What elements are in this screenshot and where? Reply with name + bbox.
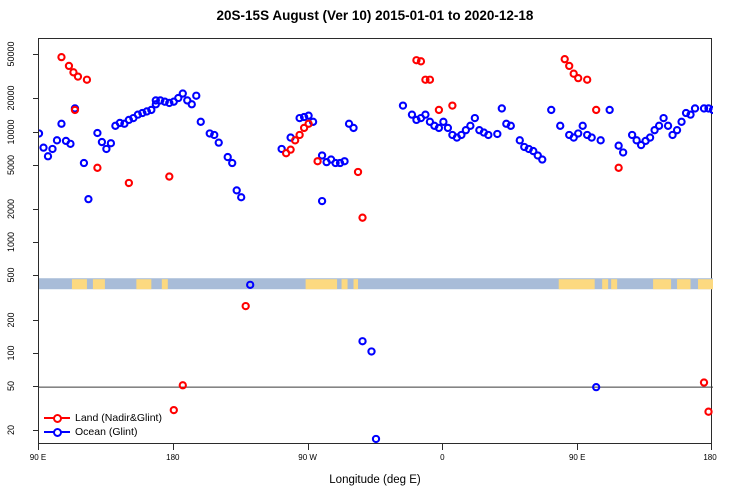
data-point	[49, 146, 55, 152]
data-point	[39, 130, 42, 136]
data-point	[45, 153, 51, 159]
data-point	[288, 147, 294, 153]
page-title: 20S-15S August (Ver 10) 2015-01-01 to 20…	[0, 8, 750, 23]
plot-area	[38, 38, 712, 444]
data-point	[211, 132, 217, 138]
y-tick-label: 20000	[6, 81, 16, 115]
data-point	[494, 131, 500, 137]
data-point	[126, 180, 132, 186]
data-point	[445, 125, 451, 131]
surface-band-land-segment	[611, 279, 617, 289]
data-point	[84, 77, 90, 83]
data-point	[40, 145, 46, 151]
legend-label: Land (Nadir&Glint)	[75, 412, 162, 424]
data-point	[225, 154, 231, 160]
data-point	[548, 107, 554, 113]
surface-band-land-segment	[93, 279, 105, 289]
x-axis-label: Longitude (deg E)	[0, 474, 750, 486]
data-point	[99, 139, 105, 145]
data-point	[85, 196, 91, 202]
data-point	[189, 101, 195, 107]
data-point	[562, 56, 568, 62]
data-point	[607, 107, 613, 113]
data-point	[598, 137, 604, 143]
data-point	[687, 112, 693, 118]
y-tick-label: 200	[6, 303, 16, 337]
data-point	[427, 77, 433, 83]
surface-band-land-segment	[342, 279, 348, 289]
data-point	[94, 165, 100, 171]
data-point	[517, 137, 523, 143]
data-point	[319, 198, 325, 204]
x-tick-label: 90 E	[30, 453, 46, 462]
data-point	[103, 146, 109, 152]
data-point	[440, 119, 446, 125]
legend-marker-icon	[44, 412, 70, 424]
data-point	[580, 123, 586, 129]
data-point	[58, 121, 64, 127]
x-tick-label: 90 W	[298, 453, 317, 462]
data-point	[341, 158, 347, 164]
data-point	[166, 173, 172, 179]
y-tick-label: 50000	[6, 37, 16, 71]
data-point	[418, 58, 424, 64]
surface-band-land-segment	[136, 279, 151, 289]
data-point	[148, 107, 154, 113]
data-point	[58, 54, 64, 60]
data-point	[368, 348, 374, 354]
data-point	[319, 152, 325, 158]
data-point	[557, 123, 563, 129]
legend-circle-icon	[53, 414, 62, 423]
data-point	[575, 130, 581, 136]
data-point	[400, 103, 406, 109]
data-point	[234, 187, 240, 193]
scatter-canvas	[39, 39, 713, 445]
data-point	[180, 90, 186, 96]
data-point	[306, 113, 312, 119]
series-ocean	[39, 90, 713, 442]
data-point	[243, 303, 249, 309]
data-point	[665, 123, 671, 129]
surface-band-land-segment	[602, 279, 608, 289]
surface-band-land-segment	[653, 279, 671, 289]
y-tick-label: 5000	[6, 148, 16, 182]
data-point	[54, 137, 60, 143]
surface-band-land-segment	[698, 279, 713, 289]
data-point	[180, 382, 186, 388]
data-point	[314, 158, 320, 164]
data-point	[72, 107, 78, 113]
data-point	[81, 160, 87, 166]
y-tick-label: 100	[6, 336, 16, 370]
y-tick-label: 2000	[6, 192, 16, 226]
data-point	[701, 379, 707, 385]
x-tick-label: 180	[166, 453, 179, 462]
data-point	[359, 215, 365, 221]
data-point	[589, 134, 595, 140]
legend-marker-icon	[44, 426, 70, 438]
data-point	[306, 121, 312, 127]
surface-band-land-segment	[354, 279, 358, 289]
x-tick-label: 180	[703, 453, 716, 462]
data-point	[67, 141, 73, 147]
y-tick-label: 1000	[6, 225, 16, 259]
data-point	[198, 119, 204, 125]
data-point	[359, 338, 365, 344]
y-tick-label: 50	[6, 369, 16, 403]
data-point	[355, 169, 361, 175]
data-point	[238, 194, 244, 200]
data-point	[94, 130, 100, 136]
data-point	[193, 93, 199, 99]
data-point	[216, 140, 222, 146]
data-point	[678, 119, 684, 125]
data-point	[616, 165, 622, 171]
data-point	[373, 436, 379, 442]
y-tick-label: 20	[6, 413, 16, 447]
surface-band-land-segment	[677, 279, 690, 289]
x-tick-label: 0	[440, 453, 444, 462]
data-point	[692, 105, 698, 111]
data-point	[485, 132, 491, 138]
data-point	[108, 140, 114, 146]
data-point	[467, 123, 473, 129]
data-point	[472, 115, 478, 121]
data-point	[75, 74, 81, 80]
data-point	[350, 125, 356, 131]
data-point	[171, 407, 177, 413]
data-point	[566, 63, 572, 69]
x-tick-label: 90 E	[569, 453, 585, 462]
surface-band-land-segment	[559, 279, 595, 289]
data-point	[229, 160, 235, 166]
y-tick-label: 500	[6, 258, 16, 292]
data-point	[297, 132, 303, 138]
data-point	[499, 105, 505, 111]
data-point	[539, 156, 545, 162]
data-point	[584, 77, 590, 83]
surface-band-land-segment	[162, 279, 168, 289]
legend: Land (Nadir&Glint)Ocean (Glint)	[44, 411, 162, 439]
data-point	[705, 409, 711, 415]
legend-item-ocean[interactable]: Ocean (Glint)	[44, 425, 162, 439]
legend-label: Ocean (Glint)	[75, 426, 137, 438]
data-point	[656, 123, 662, 129]
data-point	[647, 134, 653, 140]
y-tick-label: 10000	[6, 115, 16, 149]
data-point	[436, 107, 442, 113]
data-point	[508, 123, 514, 129]
surface-band-land-segment	[306, 279, 337, 289]
data-point	[575, 75, 581, 81]
data-point	[449, 103, 455, 109]
legend-item-land[interactable]: Land (Nadir&Glint)	[44, 411, 162, 425]
data-point	[66, 63, 72, 69]
data-point	[616, 143, 622, 149]
data-point	[436, 125, 442, 131]
chart-root: 20S-15S August (Ver 10) 2015-01-01 to 20…	[0, 0, 750, 500]
data-point	[660, 115, 666, 121]
data-point	[674, 127, 680, 133]
data-point	[593, 107, 599, 113]
legend-circle-icon	[53, 428, 62, 437]
data-point	[422, 112, 428, 118]
surface-band-land-segment	[72, 279, 87, 289]
data-point	[620, 149, 626, 155]
